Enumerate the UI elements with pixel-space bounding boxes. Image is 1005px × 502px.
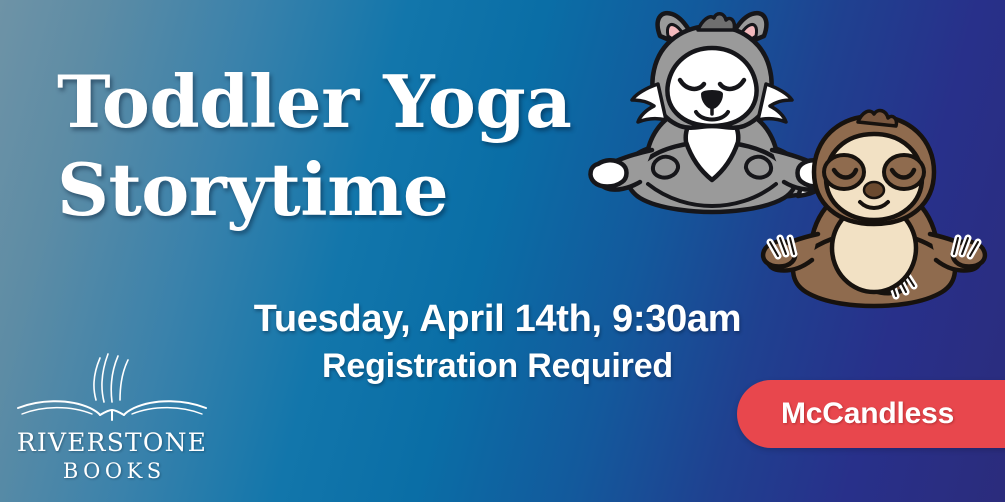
riverstone-books-logo: RIVERSTONE BOOKS: [12, 352, 212, 482]
event-title-line-2: Storytime: [57, 146, 617, 234]
event-datetime: Tuesday, April 14th, 9:30am: [0, 296, 995, 342]
logo-subtitle: BOOKS: [12, 458, 212, 484]
event-title-line-1: Toddler Yoga: [57, 58, 617, 146]
location-badge[interactable]: McCandless: [737, 380, 1005, 448]
logo-wordmark: RIVERSTONE BOOKS: [12, 428, 212, 484]
event-title: Toddler Yoga Storytime: [57, 58, 617, 234]
meditating-sloth-illustration: [756, 110, 992, 308]
location-badge-label: McCandless: [781, 380, 954, 448]
open-book-icon: [12, 352, 212, 432]
event-poster: Toddler Yoga Storytime Tuesday, April 14…: [0, 0, 1005, 502]
logo-name: RIVERSTONE: [12, 428, 212, 458]
